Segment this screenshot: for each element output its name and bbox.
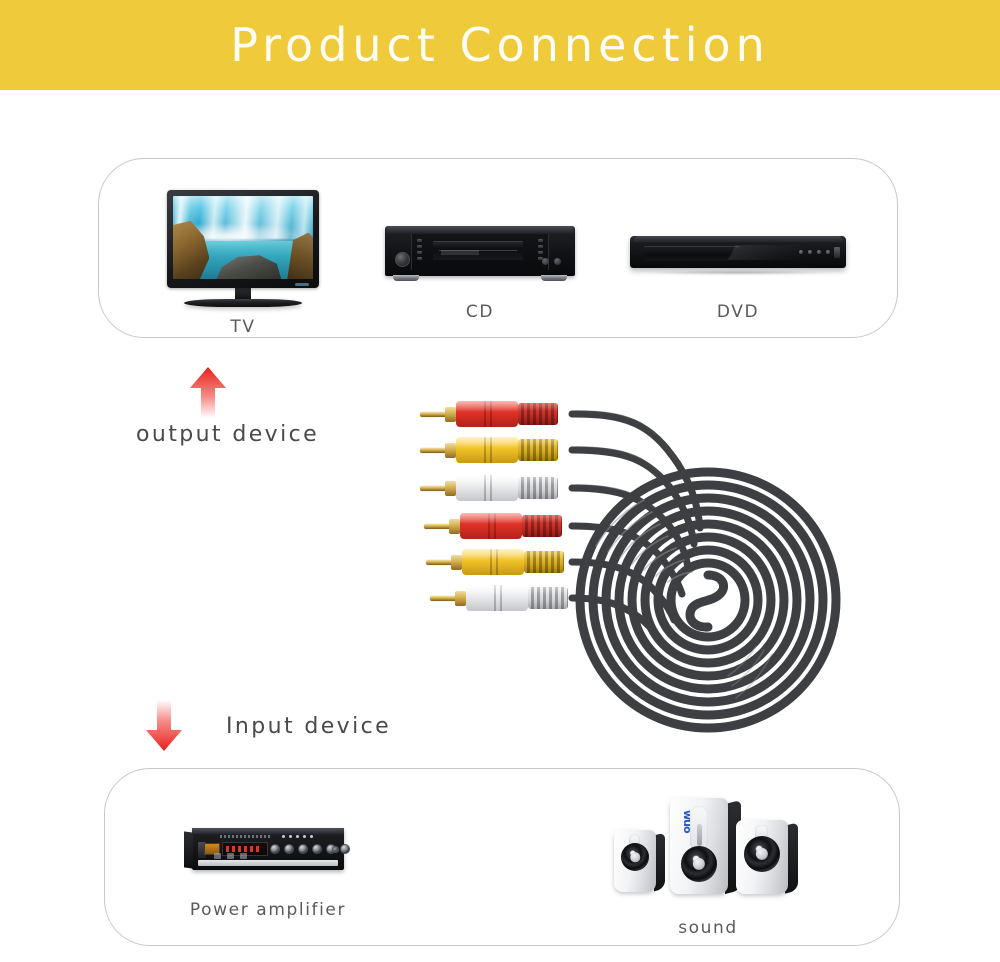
device-label-dvd: DVD: [628, 302, 848, 322]
subwoofer-badge: wuo: [681, 810, 694, 833]
device-label-sound: sound: [608, 918, 808, 938]
device-cd[interactable]: CD: [382, 226, 578, 322]
up-arrow-icon: [188, 366, 228, 423]
title-banner: Product Connection: [0, 0, 1000, 90]
rca-plug-red-2: [424, 513, 562, 539]
power-amplifier-icon: [168, 828, 368, 870]
device-tv[interactable]: TV: [148, 190, 338, 337]
rca-plug-white-2: [430, 585, 568, 611]
device-sound[interactable]: wuo sound: [608, 798, 808, 938]
flat-screen-tv-icon: [148, 190, 338, 307]
rca-plug-yellow-1: [420, 437, 558, 463]
speaker-system-icon: wuo: [614, 798, 802, 894]
down-arrow-icon: [144, 700, 184, 757]
device-label-power-amplifier: Power amplifier: [168, 900, 368, 920]
device-label-tv: TV: [148, 317, 338, 337]
device-label-cd: CD: [382, 302, 578, 322]
device-power-amplifier[interactable]: Power amplifier: [168, 828, 368, 920]
rca-plug-red-1: [420, 401, 558, 427]
page-title: Product Connection: [230, 18, 770, 72]
rca-plug-white-1: [420, 475, 558, 501]
rca-cable-icon: [420, 378, 870, 748]
cd-player-icon: [382, 226, 578, 276]
input-device-label: Input device: [226, 714, 391, 739]
dvd-player-icon: [628, 236, 848, 275]
device-dvd[interactable]: DVD: [628, 236, 848, 322]
subwoofer: wuo: [670, 798, 728, 894]
rca-plug-yellow-2: [426, 549, 564, 575]
satellite-speaker-right: [736, 820, 788, 894]
output-device-label: output device: [136, 422, 319, 447]
satellite-speaker-left: [614, 830, 656, 892]
